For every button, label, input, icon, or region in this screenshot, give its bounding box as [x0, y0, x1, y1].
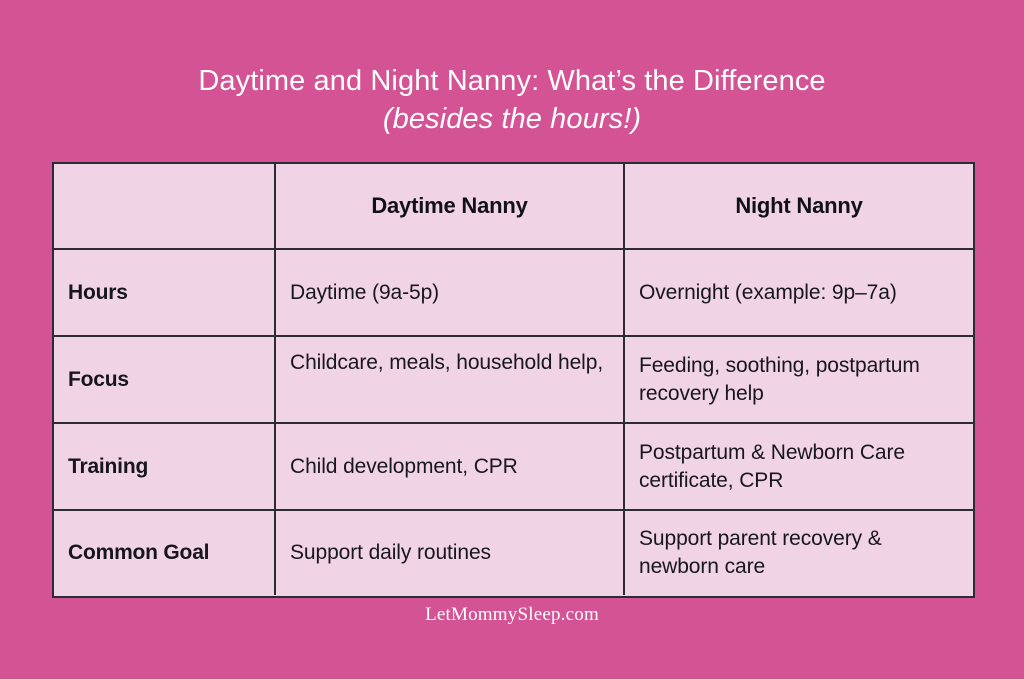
row-night-text: Overnight (example: 9p–7a) — [639, 279, 897, 307]
row-label-text: Training — [68, 455, 148, 479]
header-daytime-label: Daytime Nanny — [290, 193, 609, 219]
header-cell-corner — [54, 164, 276, 248]
table-row-focus: Focus Childcare, meals, household help, … — [54, 337, 973, 424]
row-label-text: Focus — [68, 368, 129, 392]
comparison-table: Daytime Nanny Night Nanny Hours Daytime … — [52, 162, 975, 598]
row-daytime-cell: Support daily routines — [276, 511, 625, 595]
header-cell-daytime: Daytime Nanny — [276, 164, 625, 248]
row-night-cell: Feeding, soothing, postpartum recovery h… — [625, 337, 973, 422]
row-label-cell: Focus — [54, 337, 276, 422]
page-title: Daytime and Night Nanny: What’s the Diff… — [0, 62, 1024, 138]
row-daytime-text: Daytime (9a-5p) — [290, 279, 439, 307]
row-night-cell: Support parent recovery & newborn care — [625, 511, 973, 595]
page-title-line-1: Daytime and Night Nanny: What’s the Diff… — [0, 62, 1024, 100]
footer-website-label: LetMommySleep.com — [0, 604, 1024, 626]
row-daytime-cell: Child development, CPR — [276, 424, 625, 509]
row-daytime-cell: Childcare, meals, household help, — [276, 337, 625, 422]
row-daytime-text: Childcare, meals, household help, — [290, 349, 603, 377]
row-daytime-text: Child development, CPR — [290, 453, 518, 481]
row-label-cell: Common Goal — [54, 511, 276, 595]
row-daytime-text: Support daily routines — [290, 539, 491, 567]
row-label-text: Common Goal — [68, 541, 209, 565]
table-row-training: Training Child development, CPR Postpart… — [54, 424, 973, 511]
row-night-cell: Postpartum & Newborn Care certificate, C… — [625, 424, 973, 509]
header-night-label: Night Nanny — [639, 193, 959, 219]
row-night-cell: Overnight (example: 9p–7a) — [625, 250, 973, 335]
table-row-hours: Hours Daytime (9a-5p) Overnight (example… — [54, 250, 973, 337]
row-daytime-cell: Daytime (9a-5p) — [276, 250, 625, 335]
row-night-text: Postpartum & Newborn Care certificate, C… — [639, 439, 959, 495]
table-row-common-goal: Common Goal Support daily routines Suppo… — [54, 511, 973, 595]
row-night-text: Feeding, soothing, postpartum recovery h… — [639, 352, 959, 408]
row-label-cell: Hours — [54, 250, 276, 335]
table-header-row: Daytime Nanny Night Nanny — [54, 164, 973, 250]
header-cell-night: Night Nanny — [625, 164, 973, 248]
row-night-text: Support parent recovery & newborn care — [639, 525, 959, 581]
row-label-text: Hours — [68, 281, 128, 305]
page-title-line-2: (besides the hours!) — [0, 100, 1024, 138]
row-label-cell: Training — [54, 424, 276, 509]
